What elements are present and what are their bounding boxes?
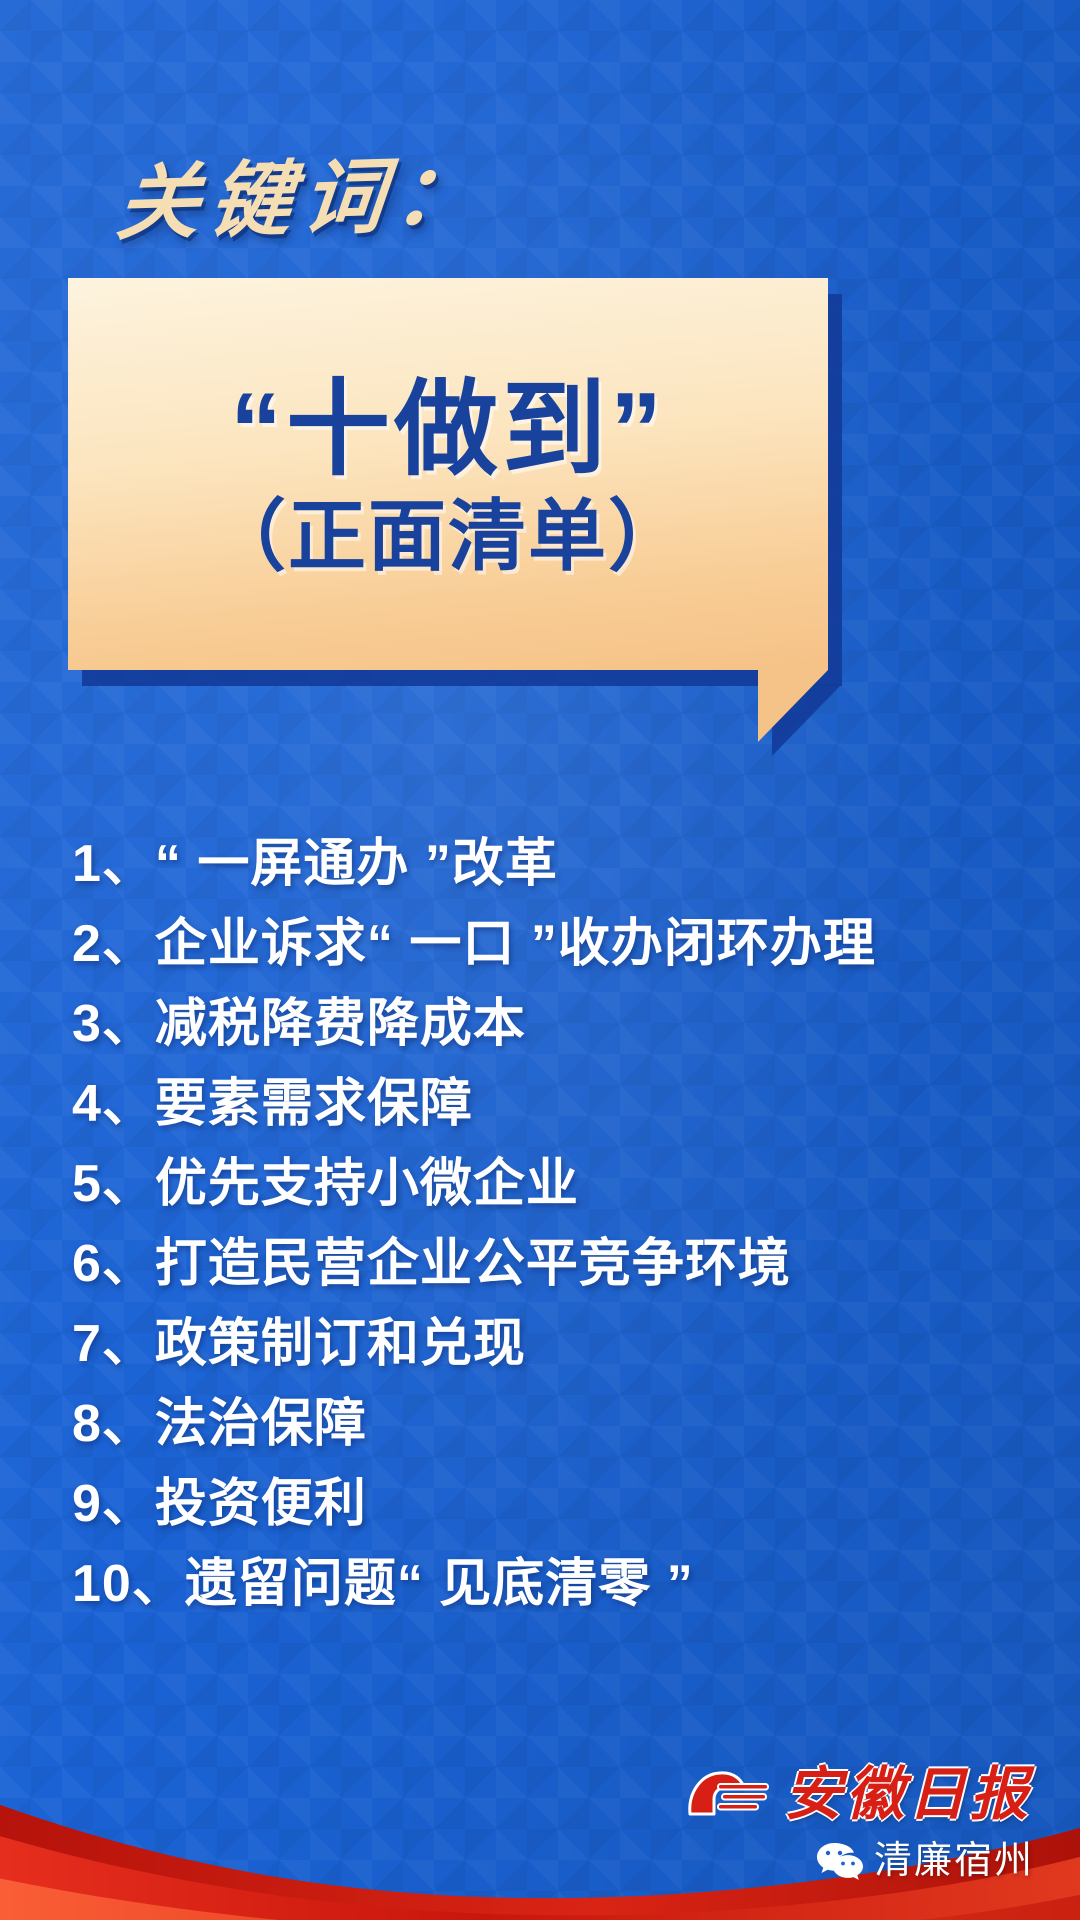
list-item: 4、要素需求保障: [72, 1078, 1032, 1130]
keyword-heading: 关键词：: [114, 153, 491, 245]
wechat-icon: [816, 1840, 864, 1882]
list-item: 6、打造民营企业公平竞争环境: [72, 1238, 1032, 1290]
list-item: 2、企业诉求“ 一口 ”收办闭环办理: [72, 918, 1032, 970]
headline-card: “十做到” （正面清单）: [68, 278, 828, 670]
list-item: 9、投资便利: [72, 1478, 1032, 1530]
headline-card-subtitle: （正面清单）: [208, 492, 688, 582]
list-item: 8、法治保障: [72, 1398, 1032, 1450]
brand-lockup: 安徽日报: [684, 1764, 1032, 1824]
wechat-account-name: 清廉宿州: [874, 1842, 1034, 1880]
anhui-daily-logo-icon: [684, 1764, 770, 1824]
headline-card-title: “十做到”: [230, 374, 666, 486]
headline-card-tail: [758, 670, 828, 742]
poster-root: 关键词： “十做到” （正面清单） 1、“ 一屏通办 ”改革 2、企业诉求“ 一…: [0, 0, 1080, 1920]
list-item: 1、“ 一屏通办 ”改革: [72, 838, 1032, 890]
list-item: 5、优先支持小微企业: [72, 1158, 1032, 1210]
list-item: 10、遗留问题“ 见底清零 ”: [72, 1558, 1032, 1610]
list-item: 3、减税降费降成本: [72, 998, 1032, 1050]
list-item: 7、政策制订和兑现: [72, 1318, 1032, 1370]
checklist: 1、“ 一屏通办 ”改革 2、企业诉求“ 一口 ”收办闭环办理 3、减税降费降成…: [72, 838, 1032, 1638]
headline-card-body: “十做到” （正面清单）: [68, 278, 828, 670]
wechat-account: 清廉宿州: [816, 1840, 1034, 1882]
brand-name: 安徽日报: [784, 1765, 1032, 1823]
